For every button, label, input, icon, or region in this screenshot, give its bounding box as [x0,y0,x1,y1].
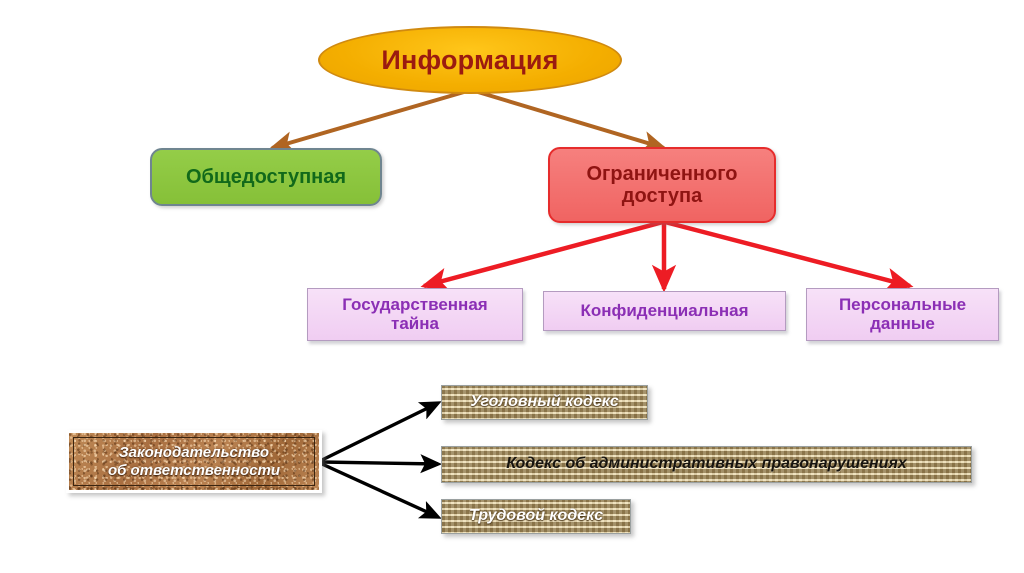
node-personal-data-line1: Персональные [839,295,966,314]
node-legislation-line2: об ответственности [108,462,280,479]
arrow-law-to-administrative-code [322,462,438,464]
node-state-secret[interactable]: Государственная тайна [307,288,523,341]
node-restricted-access-line1: Ограниченного [587,163,738,185]
node-restricted-access-label: Ограниченного доступа [587,163,738,208]
node-state-secret-line2: тайна [391,314,439,333]
node-legislation-line1: Законодательство [119,444,269,461]
node-labour-code-label: Трудовой кодекс [459,507,613,525]
arrow-law-to-labour-code [322,464,438,517]
arrow-restricted-to-state-secret [424,222,663,286]
node-information-label: Информация [381,45,558,76]
node-information[interactable]: Информация [318,26,622,94]
arrow-info-to-restricted [478,92,664,148]
arrow-info-to-public [272,92,464,148]
node-personal-data-line2: данные [870,314,935,333]
node-legislation[interactable]: Законодательство об ответственности [66,430,322,493]
node-legislation-label: Законодательство об ответственности [100,444,288,479]
node-confidential[interactable]: Конфиденциальная [543,291,786,331]
node-public-access[interactable]: Общедоступная [150,148,382,206]
node-personal-data-label: Персональные данные [839,296,966,333]
node-personal-data[interactable]: Персональные данные [806,288,999,341]
arrow-law-to-criminal-code [322,403,438,460]
node-state-secret-line1: Государственная [342,295,487,314]
node-state-secret-label: Государственная тайна [342,296,487,333]
node-confidential-label: Конфиденциальная [580,302,748,321]
node-criminal-code-label: Уголовный кодекс [460,393,629,411]
node-administrative-code-label: Кодекс об административных правонарушени… [496,455,917,473]
node-public-access-label: Общедоступная [186,166,346,188]
node-restricted-access[interactable]: Ограниченного доступа [548,147,776,223]
node-labour-code[interactable]: Трудовой кодекс [441,499,631,534]
node-administrative-code[interactable]: Кодекс об административных правонарушени… [441,446,972,483]
arrow-restricted-to-personal-data [665,222,910,286]
node-criminal-code[interactable]: Уголовный кодекс [441,385,648,420]
node-restricted-access-line2: доступа [622,185,702,207]
diagram-canvas: Информация Общедоступная Ограниченного д… [0,0,1024,573]
